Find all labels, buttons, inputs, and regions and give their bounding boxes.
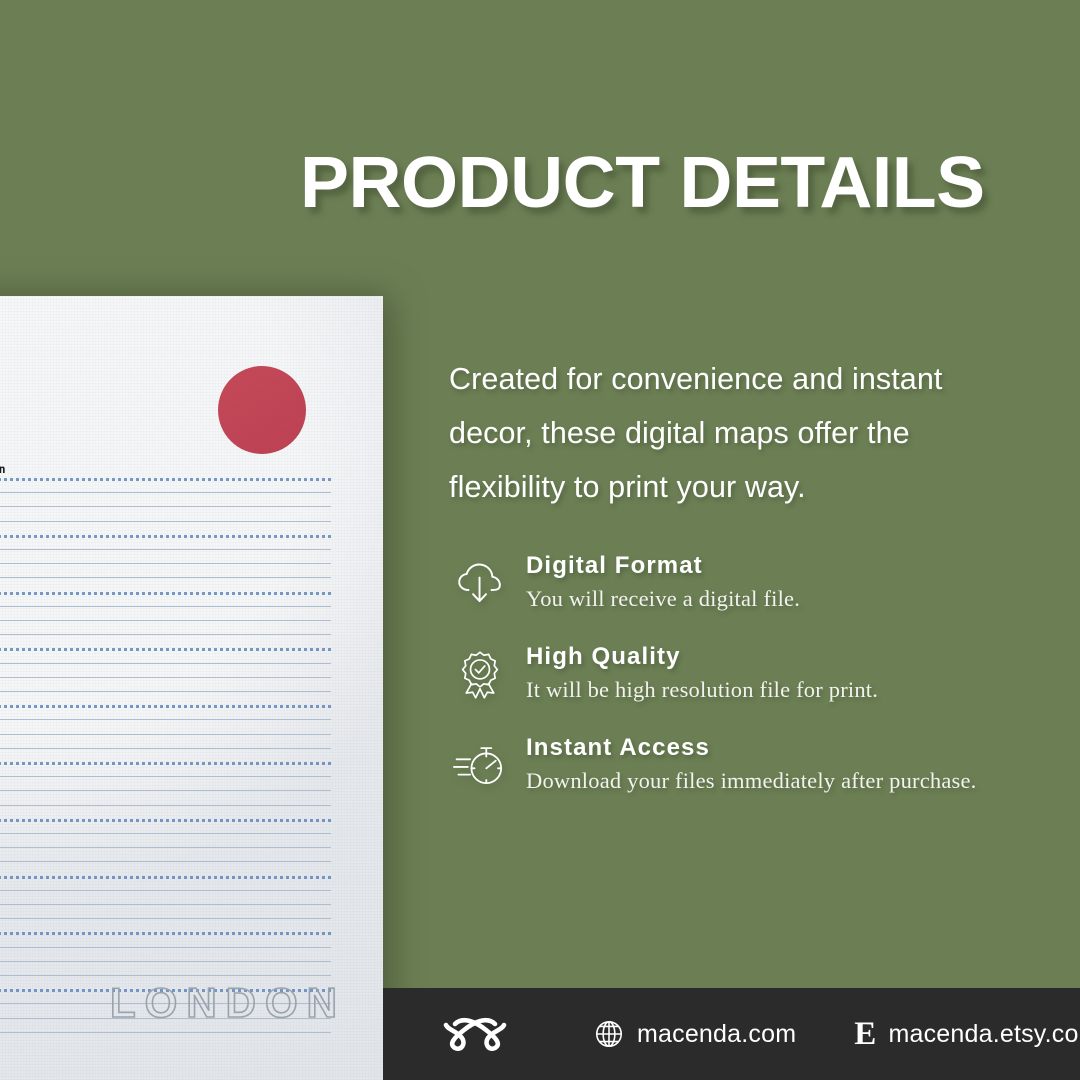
poster-rule-lines [0, 478, 331, 1038]
feature-description: You will receive a digital file. [526, 586, 800, 612]
feature-list: Digital Format You will receive a digita… [449, 552, 1049, 825]
feature-description: It will be high resolution file for prin… [526, 677, 878, 703]
red-circle-accent [218, 366, 306, 454]
poster-canvas: the rain LONDON PRODUCT DETAILS Created … [0, 0, 1080, 1080]
feature-item-instant-access: Instant Access Download your files immed… [449, 734, 1049, 796]
feature-heading: Digital Format [526, 553, 800, 579]
footer-link-website-label: macenda.com [637, 1020, 796, 1049]
poster-rule-solid [0, 904, 331, 905]
poster-rule-solid [0, 563, 331, 564]
footer-link-etsy[interactable]: E macenda.etsy.com [854, 1018, 1080, 1051]
poster-rule-solid [0, 975, 331, 976]
macenda-infinity-logo [438, 1011, 512, 1057]
poster-rule-solid [0, 790, 331, 791]
poster-city-label: LONDON [110, 979, 346, 1027]
person-with-umbrella-silhouette [0, 783, 6, 845]
poster-rule-solid [0, 719, 331, 720]
feature-description: Download your files immediately after pu… [526, 768, 977, 794]
poster-rule-dotted [0, 705, 331, 711]
poster-rule-solid [0, 634, 331, 635]
poster-rule-solid [0, 506, 331, 507]
poster-rule-dotted [0, 876, 331, 882]
poster-rule-dotted [0, 819, 331, 825]
poster-rule-dotted [0, 478, 331, 484]
poster-rule-solid [0, 805, 331, 806]
poster-rule-solid [0, 961, 331, 962]
award-badge-check-icon [449, 645, 511, 705]
poster-rule-solid [0, 776, 331, 777]
poster-rule-solid [0, 620, 331, 621]
poster-poem-line: the rain [0, 462, 6, 476]
feature-text: Digital Format You will receive a digita… [511, 552, 800, 612]
poster-rule-solid [0, 847, 331, 848]
poster-rule-solid [0, 918, 331, 919]
poster-rule-solid [0, 861, 331, 862]
poster-rule-solid [0, 748, 331, 749]
feature-text: High Quality It will be high resolution … [511, 643, 878, 703]
poster-rule-solid [0, 677, 331, 678]
poster-rule-solid [0, 521, 331, 522]
poster-rule-solid [0, 947, 331, 948]
feature-item-digital-format: Digital Format You will receive a digita… [449, 552, 1049, 614]
poster-rule-dotted [0, 535, 331, 541]
etsy-e-icon: E [854, 1018, 876, 1051]
poster-rule-dotted [0, 932, 331, 938]
poster-rule-dotted [0, 592, 331, 598]
poster-rule-solid [0, 890, 331, 891]
poster-rule-dotted [0, 762, 331, 768]
globe-icon [592, 1017, 626, 1051]
poster-rule-solid [0, 492, 331, 493]
poster-rule-dotted [0, 648, 331, 654]
feature-heading: High Quality [526, 644, 878, 670]
feature-item-high-quality: High Quality It will be high resolution … [449, 643, 1049, 705]
page-title: PRODUCT DETAILS [300, 146, 1055, 222]
poster-rule-solid [0, 549, 331, 550]
poster-rule-solid [0, 663, 331, 664]
poster-rule-solid [0, 734, 331, 735]
poster-rule-solid [0, 691, 331, 692]
intro-paragraph: Created for convenience and instant deco… [449, 352, 1024, 514]
poster-rule-solid [0, 1032, 331, 1033]
poster-rule-solid [0, 833, 331, 834]
cloud-download-icon [449, 554, 511, 614]
footer-bar: macenda.com E macenda.etsy.com [383, 988, 1080, 1080]
feature-heading: Instant Access [526, 735, 977, 761]
footer-content: macenda.com E macenda.etsy.com [383, 1011, 1080, 1057]
poster-rule-solid [0, 577, 331, 578]
footer-link-etsy-label: macenda.etsy.com [888, 1020, 1080, 1049]
poster-artwork: the rain LONDON [0, 296, 383, 1080]
stopwatch-speed-icon [449, 736, 511, 796]
feature-text: Instant Access Download your files immed… [511, 734, 977, 794]
footer-link-website[interactable]: macenda.com [592, 1017, 796, 1051]
poster-rule-solid [0, 606, 331, 607]
